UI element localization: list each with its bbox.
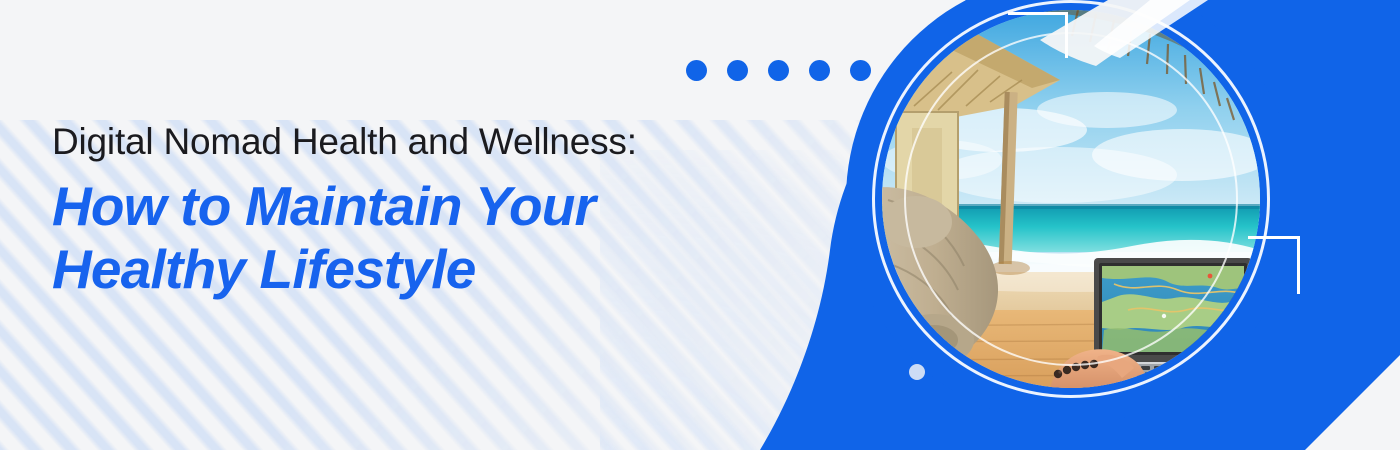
headline-line-2: How to Maintain Your bbox=[52, 175, 842, 238]
banner-root: Digital Nomad Health and Wellness: How t… bbox=[0, 0, 1400, 450]
decorative-dot-4 bbox=[809, 60, 830, 81]
headline-line-3: Healthy Lifestyle bbox=[52, 238, 842, 301]
headline-block: Digital Nomad Health and Wellness: How t… bbox=[52, 118, 842, 301]
beach-laptop-photo bbox=[882, 10, 1260, 388]
decorative-dot-1 bbox=[686, 60, 707, 81]
decorative-dot-row bbox=[686, 60, 871, 81]
headline-line-1: Digital Nomad Health and Wellness: bbox=[52, 118, 842, 166]
circular-photo-composition bbox=[846, 0, 1296, 424]
ring-accent-dot bbox=[909, 364, 925, 380]
decorative-dot-2 bbox=[727, 60, 748, 81]
decorative-dot-3 bbox=[768, 60, 789, 81]
decorative-dot-5 bbox=[850, 60, 871, 81]
